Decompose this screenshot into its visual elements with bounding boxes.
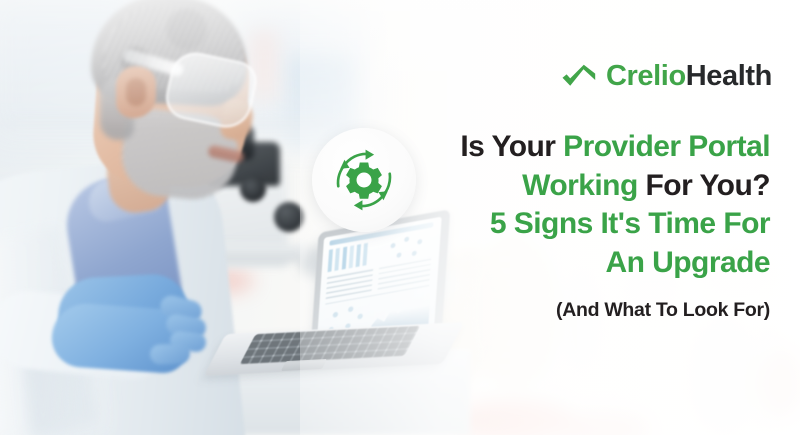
microscope-focus-knob	[274, 202, 304, 232]
gear-refresh-badge	[312, 128, 416, 232]
page-title: Is Your Provider Portal Working For You?…	[404, 128, 770, 283]
agar-plate-blur	[760, 352, 800, 416]
logo-health-text: Health	[686, 60, 772, 92]
green-checkmark-icon	[561, 64, 597, 90]
gear-refresh-cycle-icon	[325, 141, 403, 219]
microscope-objective-lens	[240, 176, 266, 202]
creliohealth-logo[interactable]: CrelioHealth	[561, 62, 772, 91]
logo-crelio-text: Crelio	[606, 60, 686, 92]
headline-line4-green: An Upgrade	[605, 246, 770, 279]
logo-wordmark: CrelioHealth	[606, 62, 772, 91]
headline-subtitle: (And What To Look For)	[404, 299, 770, 322]
dashboard-bar-chart	[328, 243, 369, 272]
headline-line3-green: 5 Signs It's Time For	[490, 207, 770, 240]
headline-line1-green: Provider Portal	[563, 130, 770, 163]
ear-inner	[126, 78, 146, 106]
agar-plate-blur	[455, 400, 575, 435]
headline-line1-dark: Is Your	[460, 130, 563, 163]
headline-line2-green: Working	[522, 169, 638, 202]
headline-block: Is Your Provider Portal Working For You?…	[404, 128, 770, 322]
glove-finger	[150, 343, 191, 364]
blog-hero-banner: CrelioHealth Is Your Provider Portal Wor…	[0, 0, 800, 435]
headline-line2-dark: For You?	[638, 169, 770, 202]
